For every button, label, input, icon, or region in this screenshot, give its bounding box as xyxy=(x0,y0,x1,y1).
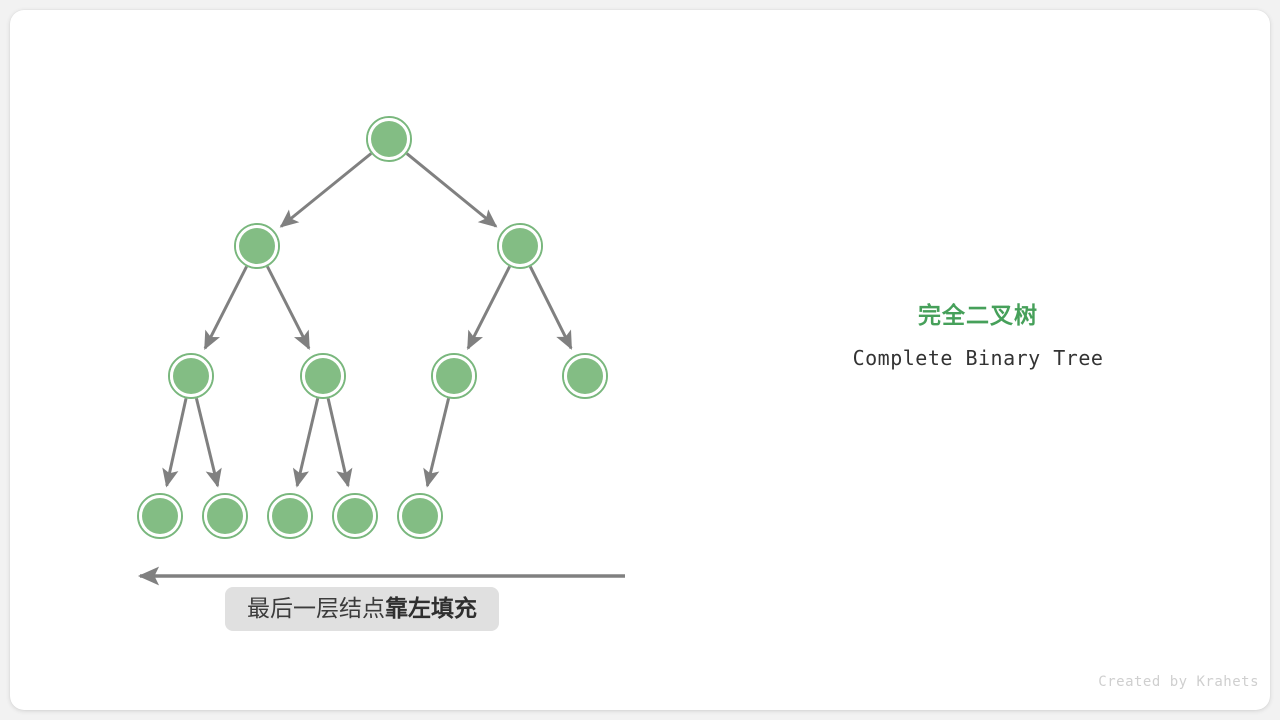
caption-text-bold: 靠左填充 xyxy=(385,595,477,621)
tree-node-fill xyxy=(173,358,209,394)
tree-edge xyxy=(167,398,186,485)
tree-edge xyxy=(530,267,571,349)
tree-node xyxy=(203,494,247,538)
tree-node-fill xyxy=(337,498,373,534)
tree-node xyxy=(563,354,607,398)
tree-edge xyxy=(267,267,309,349)
tree-node xyxy=(235,224,279,268)
page-subtitle: Complete Binary Tree xyxy=(778,346,1178,370)
tree-node-fill xyxy=(371,121,407,157)
tree-node xyxy=(367,117,411,161)
tree-node-fill xyxy=(402,498,438,534)
tree-node xyxy=(169,354,213,398)
tree-edge-layer xyxy=(167,153,571,485)
diagram-card: 完全二叉树 Complete Binary Tree 最后一层结点靠左填充 Cr… xyxy=(10,10,1270,710)
tree-node-fill xyxy=(305,358,341,394)
tree-node xyxy=(138,494,182,538)
caption-text-normal: 最后一层结点 xyxy=(247,595,385,621)
tree-node xyxy=(301,354,345,398)
caption-badge: 最后一层结点靠左填充 xyxy=(225,587,499,631)
tree-edge xyxy=(407,154,496,227)
tree-node-fill xyxy=(239,228,275,264)
tree-node-fill xyxy=(142,498,178,534)
tree-node xyxy=(498,224,542,268)
tree-edge xyxy=(281,153,371,226)
tree-node xyxy=(432,354,476,398)
tree-node-fill xyxy=(436,358,472,394)
tree-node-fill xyxy=(567,358,603,394)
tree-node xyxy=(333,494,377,538)
tree-edge xyxy=(427,398,448,486)
tree-node-fill xyxy=(207,498,243,534)
page-title: 完全二叉树 xyxy=(778,302,1178,330)
tree-node-layer xyxy=(138,117,607,538)
tree-node-fill xyxy=(272,498,308,534)
tree-node-fill xyxy=(502,228,538,264)
tree-edge xyxy=(205,267,247,349)
tree-edge xyxy=(297,398,318,485)
tree-edge xyxy=(196,398,217,486)
tree-edge xyxy=(328,398,348,485)
watermark-credit: Created by Krahets xyxy=(10,674,1259,690)
tree-node xyxy=(398,494,442,538)
tree-edge xyxy=(468,267,510,349)
screenshot-stage: 完全二叉树 Complete Binary Tree 最后一层结点靠左填充 Cr… xyxy=(0,0,1280,720)
tree-node xyxy=(268,494,312,538)
